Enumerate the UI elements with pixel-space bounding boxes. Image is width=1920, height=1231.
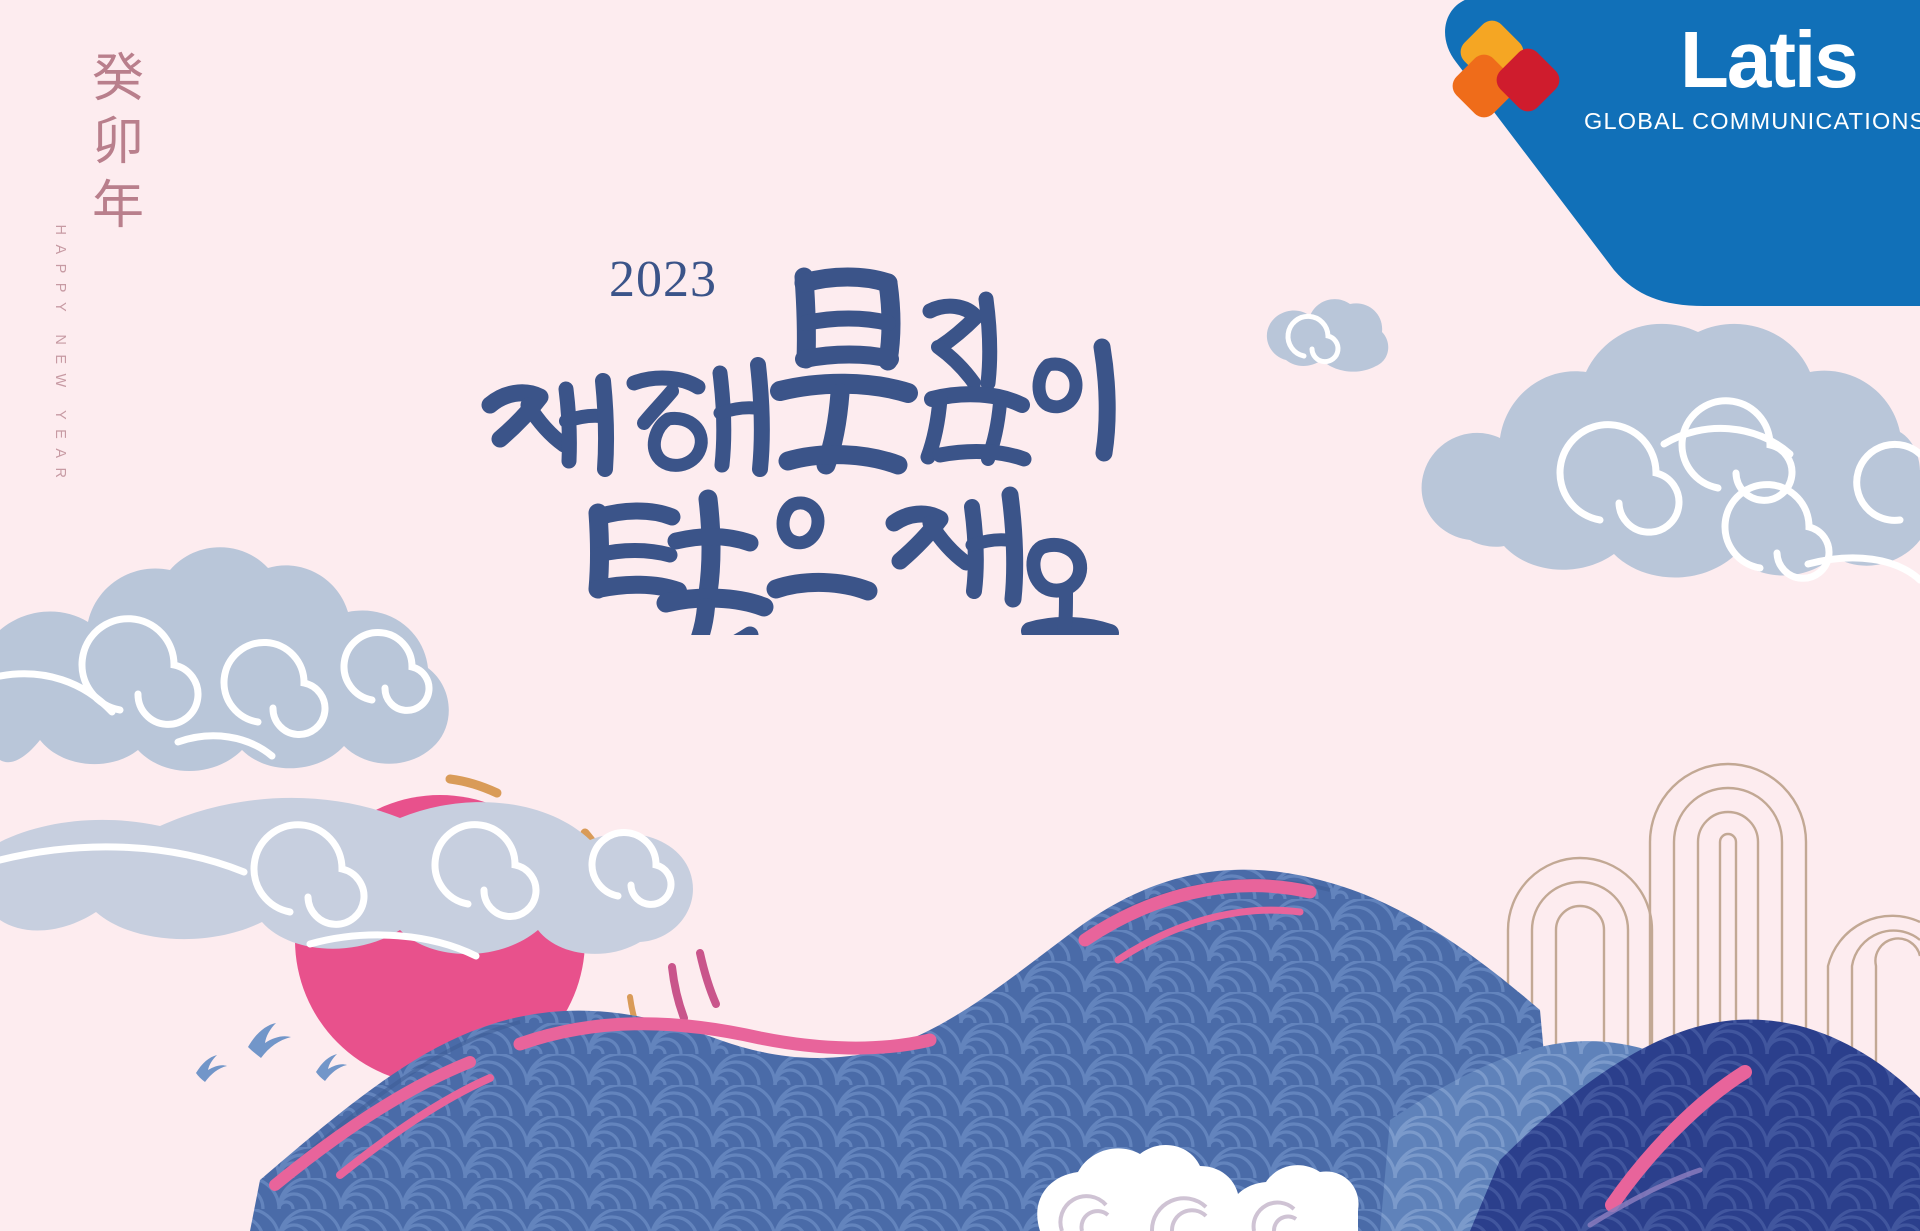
cloud-wisp-left <box>0 798 693 956</box>
glyph-se <box>894 495 1015 599</box>
glyph-bok <box>780 277 908 465</box>
cloud-puff-small <box>1267 299 1388 372</box>
bird-group <box>196 1023 347 1082</box>
hanja-char-2: 卯 <box>78 111 158 174</box>
glyph-manh <box>928 299 1024 459</box>
glyph-yo <box>1030 545 1110 633</box>
cloud-right <box>1422 324 1920 580</box>
hanja-char-1: 癸 <box>78 48 158 111</box>
bird-2 <box>196 1055 227 1082</box>
hanja-char-3: 年 <box>78 175 158 238</box>
bird-1 <box>248 1023 291 1058</box>
greeting-calligraphy <box>470 255 1130 635</box>
new-year-greeting-card: Latis GLOBAL COMMUNICATIONS 癸 卯 年 HAPPY … <box>0 0 1920 1231</box>
glyph-eu <box>776 503 868 591</box>
cloud-left <box>0 547 449 771</box>
glyph-sae <box>490 381 606 469</box>
vertical-text-block: 癸 卯 年 HAPPY NEW YEAR <box>78 48 158 238</box>
bird-3 <box>316 1054 347 1081</box>
glyph-bat <box>598 499 764 635</box>
glyph-hae <box>634 365 762 469</box>
happy-new-year-label: HAPPY NEW YEAR <box>52 206 68 506</box>
glyph-i <box>1039 347 1107 453</box>
